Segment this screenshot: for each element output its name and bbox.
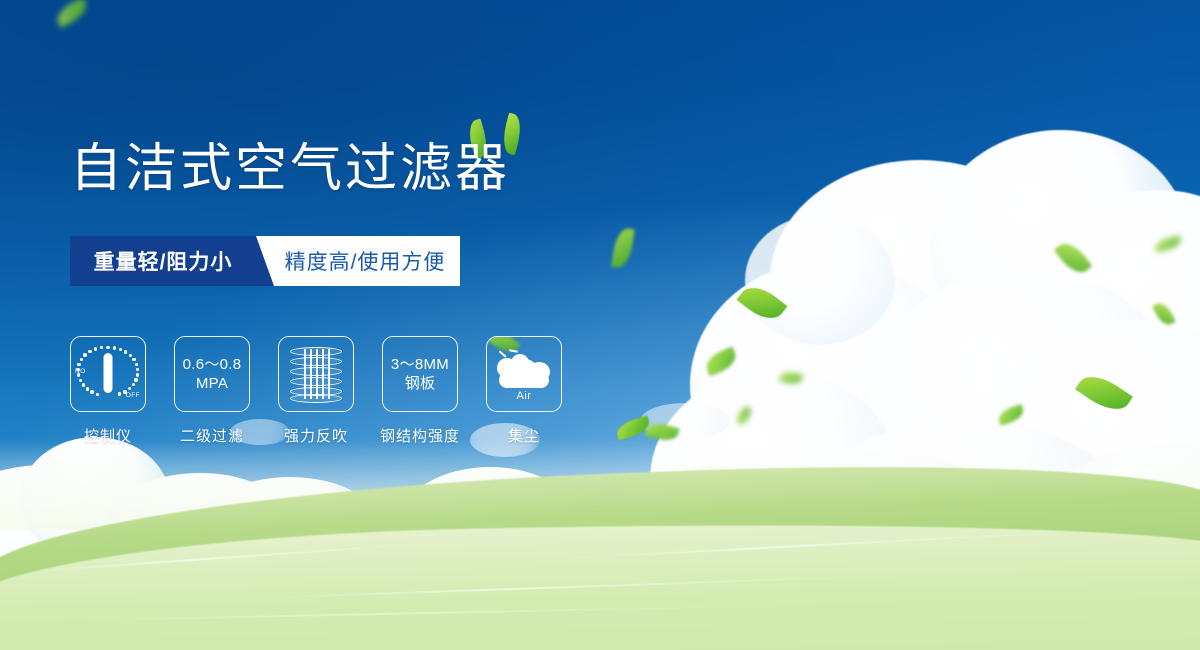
gauge-no-label: NO xyxy=(75,368,86,375)
pressure-unit-text: MPA xyxy=(196,374,228,393)
feature-item-two-stage-filter[interactable]: 0.6～0.8 MPA 二级过滤 xyxy=(174,336,250,446)
gauge-dial-icon: NO OFF xyxy=(75,344,141,404)
feature-item-dust-collection[interactable]: Air 集尘 xyxy=(486,336,562,446)
steel-thickness-text: 3～8MM xyxy=(391,355,449,374)
page-title: 自洁式空气过滤器 xyxy=(70,143,510,195)
feature-list: NO OFF 控制仪 0.6～0.8 MPA 二级过滤 xyxy=(70,336,562,446)
filter-stack-icon xyxy=(290,345,342,403)
feature-label: 强力反吹 xyxy=(284,425,348,446)
feature-item-controller[interactable]: NO OFF 控制仪 xyxy=(70,336,146,446)
feature-icon-box xyxy=(278,336,354,412)
feature-icon-box: Air xyxy=(486,336,562,412)
cloud-air-label: Air xyxy=(495,390,553,402)
steel-plate-text: 钢板 xyxy=(405,374,436,393)
product-banner: 自洁式空气过滤器 重量轻/阻力小 精度高/使用方便 xyxy=(0,0,1200,650)
subtitle-bar: 重量轻/阻力小 精度高/使用方便 xyxy=(70,236,460,286)
feature-item-backblow[interactable]: 强力反吹 xyxy=(278,336,354,446)
pressure-value-text: 0.6～0.8 xyxy=(183,355,242,374)
feature-icon-box: 3～8MM 钢板 xyxy=(382,336,458,412)
gauge-off-label: OFF xyxy=(126,392,140,399)
feature-label: 控制仪 xyxy=(84,425,132,446)
feature-label: 集尘 xyxy=(508,425,540,446)
subtitle-tag-left: 重量轻/阻力小 xyxy=(70,236,256,286)
cloud-air-icon: Air xyxy=(495,350,553,398)
feature-label: 二级过滤 xyxy=(180,425,244,446)
feature-icon-box: 0.6～0.8 MPA xyxy=(174,336,250,412)
subtitle-tag-right: 精度高/使用方便 xyxy=(256,236,460,286)
feature-icon-box: NO OFF xyxy=(70,336,146,412)
feature-item-steel-strength[interactable]: 3～8MM 钢板 钢结构强度 xyxy=(382,336,458,446)
feature-label: 钢结构强度 xyxy=(380,425,460,446)
